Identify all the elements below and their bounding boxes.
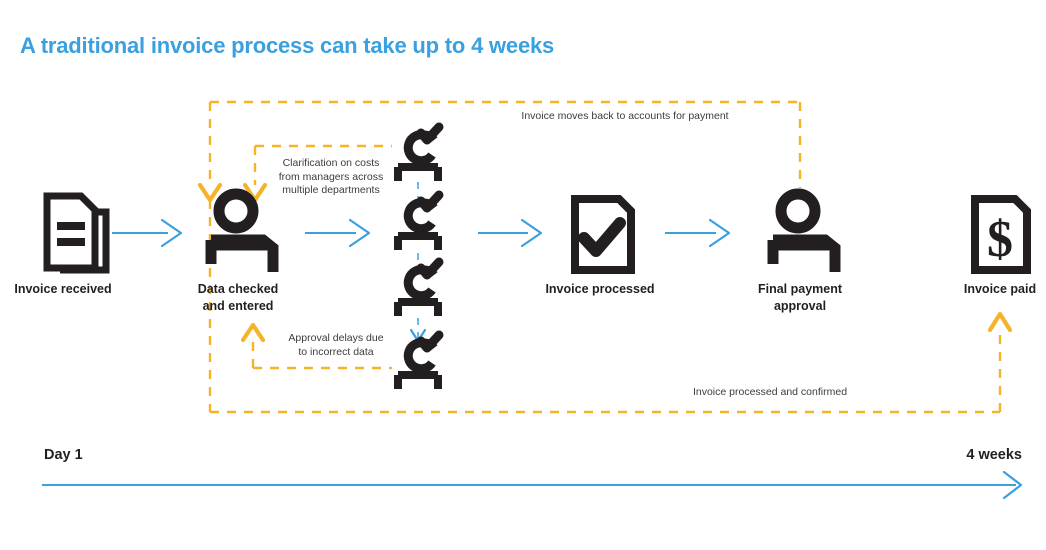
note-invoice-confirmed: Invoice processed and confirmed — [660, 386, 880, 400]
chevron-up-icon — [243, 325, 263, 340]
flow-arrow-4 — [665, 220, 729, 246]
approver-checklist-icon-4 — [398, 335, 439, 389]
timeline-start-label: Day 1 — [44, 447, 83, 463]
approver-checklist-icon-3 — [398, 262, 439, 316]
person-at-desk-icon — [211, 194, 273, 272]
note-clarification: Clarification on costs from managers acr… — [272, 157, 390, 198]
flow-arrow-2 — [305, 220, 369, 246]
connector-layer: .dash { stroke:#f5b32a; stroke-width:2.4… — [0, 0, 1046, 550]
flow-arrow-3 — [478, 220, 541, 246]
node-label-invoice-paid: Invoice paid — [940, 281, 1046, 298]
flow-arrow-1 — [112, 220, 181, 246]
diagram-canvas: A traditional invoice process can take u… — [0, 0, 1046, 550]
document-dollar-icon: $ — [975, 199, 1027, 270]
note-invoice-moves-back: Invoice moves back to accounts for payme… — [500, 110, 750, 124]
node-label-final-approval: Final payment approval — [740, 281, 860, 315]
timeline-axis — [42, 472, 1021, 498]
person-at-desk-icon-2 — [773, 194, 835, 272]
node-label-data-checked: Data checked and entered — [178, 281, 298, 315]
node-label-invoice-received: Invoice received — [3, 281, 123, 298]
document-check-icon — [575, 199, 631, 270]
timeline-end-label: 4 weeks — [966, 447, 1022, 463]
approver-checklist-icon-1 — [398, 127, 439, 181]
node-label-invoice-processed: Invoice processed — [540, 281, 660, 298]
documents-icon — [47, 196, 106, 270]
svg-text:$: $ — [987, 211, 1013, 268]
chevron-down-icon — [200, 185, 220, 200]
approver-checklist-icon-2 — [398, 195, 439, 250]
chevron-up-icon — [990, 314, 1010, 330]
note-approval-delays: Approval delays due to incorrect data — [272, 332, 400, 359]
